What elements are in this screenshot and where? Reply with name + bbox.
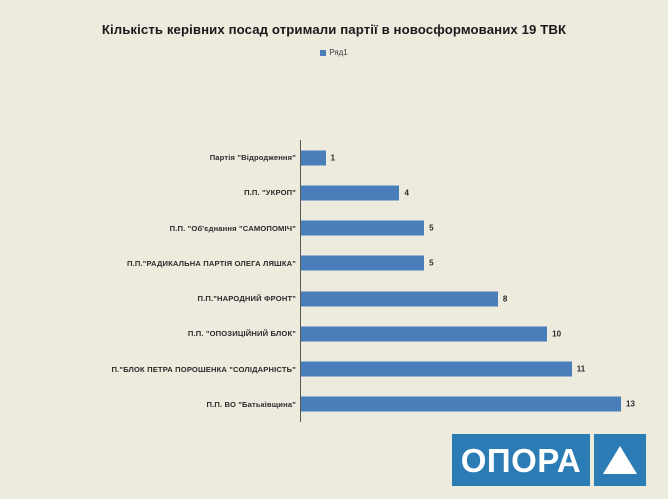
plot-area: Партія "Відродження"1П.П. "УКРОП"4П.П. "…: [0, 140, 668, 422]
bar-with-label: 5: [301, 221, 434, 236]
opora-logo-mark: [594, 434, 646, 486]
bar-value-label: 11: [577, 365, 585, 374]
bar-row: Партія "Відродження"1: [0, 140, 668, 175]
bar-with-label: 8: [301, 291, 507, 306]
bar-value-label: 13: [626, 400, 635, 409]
bar-value-label: 5: [429, 224, 433, 233]
category-label: П."БЛОК ПЕТРА ПОРОШЕНКА "СОЛІДАРНІСТЬ": [111, 365, 296, 374]
bar: [301, 291, 498, 306]
bar: [301, 397, 621, 412]
category-label: П.П. "Об'єднання "САМОПОМІЧ": [170, 224, 296, 233]
legend-label: Ряд1: [329, 48, 348, 57]
bar-value-label: 4: [404, 188, 408, 197]
bar: [301, 185, 399, 200]
bar-row: П.П."НАРОДНИЙ ФРОНТ"8: [0, 281, 668, 316]
bar: [301, 256, 424, 271]
bar-row: П."БЛОК ПЕТРА ПОРОШЕНКА "СОЛІДАРНІСТЬ"11: [0, 352, 668, 387]
chart-legend: Ряд1: [0, 48, 668, 57]
category-label: П.П. ВО "Батьківщина": [207, 400, 296, 409]
bar-with-label: 5: [301, 256, 434, 271]
bar-value-label: 1: [331, 153, 335, 162]
chart-title: Кількість керівних посад отримали партії…: [0, 22, 668, 37]
category-label: П.П. "УКРОП": [244, 188, 296, 197]
bar-row: П.П. "ОПОЗИЦІЙНИЙ БЛОК"10: [0, 316, 668, 351]
opora-logo: ОПОРА: [452, 434, 646, 486]
bar-row: П.П."РАДИКАЛЬНА ПАРТІЯ ОЛЕГА ЛЯШКА"5: [0, 246, 668, 281]
triangle-icon: [603, 446, 637, 474]
bar-with-label: 4: [301, 185, 409, 200]
bar-row: П.П. "Об'єднання "САМОПОМІЧ"5: [0, 211, 668, 246]
bar: [301, 362, 572, 377]
bar-row: П.П. "УКРОП"4: [0, 175, 668, 210]
chart-container: Кількість керівних посад отримали партії…: [0, 0, 668, 499]
bar-with-label: 13: [301, 397, 635, 412]
bar-rows: Партія "Відродження"1П.П. "УКРОП"4П.П. "…: [0, 140, 668, 422]
category-label: П.П."РАДИКАЛЬНА ПАРТІЯ ОЛЕГА ЛЯШКА": [127, 259, 296, 268]
bar: [301, 221, 424, 236]
category-label: Партія "Відродження": [210, 153, 296, 162]
bar-value-label: 8: [503, 294, 507, 303]
bar: [301, 150, 326, 165]
opora-logo-wordmark: ОПОРА: [452, 434, 590, 486]
bar-with-label: 11: [301, 362, 585, 377]
bar-value-label: 10: [552, 329, 561, 338]
bar-value-label: 5: [429, 259, 433, 268]
category-label: П.П. "ОПОЗИЦІЙНИЙ БЛОК": [188, 329, 296, 338]
opora-logo-text: ОПОРА: [461, 444, 582, 477]
category-label: П.П."НАРОДНИЙ ФРОНТ": [198, 294, 296, 303]
bar: [301, 326, 547, 341]
bar-row: П.П. ВО "Батьківщина"13: [0, 387, 668, 422]
bar-with-label: 1: [301, 150, 335, 165]
legend-swatch-icon: [320, 50, 326, 56]
bar-with-label: 10: [301, 326, 561, 341]
